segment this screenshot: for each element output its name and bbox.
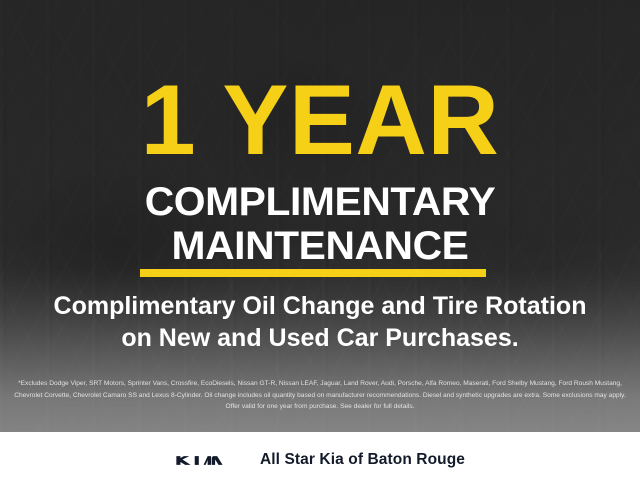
- disclaimer-text: *Excludes Dodge Viper, SRT Motors, Sprin…: [14, 378, 626, 413]
- dealer-name: All Star Kia of Baton Rouge: [260, 451, 465, 469]
- offer-line-1: Complimentary Oil Change and Tire Rotati…: [0, 292, 640, 321]
- yellow-divider-bar: [140, 269, 486, 277]
- headline-year: 1 YEAR: [0, 72, 640, 167]
- offer-line-2: on New and Used Car Purchases.: [0, 324, 640, 353]
- headline-maintenance: MAINTENANCE: [0, 224, 640, 269]
- advertisement-banner: 1 YEAR COMPLIMENTARY MAINTENANCE Complim…: [0, 0, 640, 488]
- hero-section: 1 YEAR COMPLIMENTARY MAINTENANCE Complim…: [0, 0, 640, 432]
- kia-logo-icon: [175, 452, 243, 469]
- footer-brand-group[interactable]: All Star Kia of Baton Rouge: [175, 451, 465, 469]
- headline-complimentary: COMPLIMENTARY: [0, 180, 640, 225]
- hero-content: 1 YEAR COMPLIMENTARY MAINTENANCE Complim…: [0, 0, 640, 432]
- footer-bar: All Star Kia of Baton Rouge: [0, 432, 640, 488]
